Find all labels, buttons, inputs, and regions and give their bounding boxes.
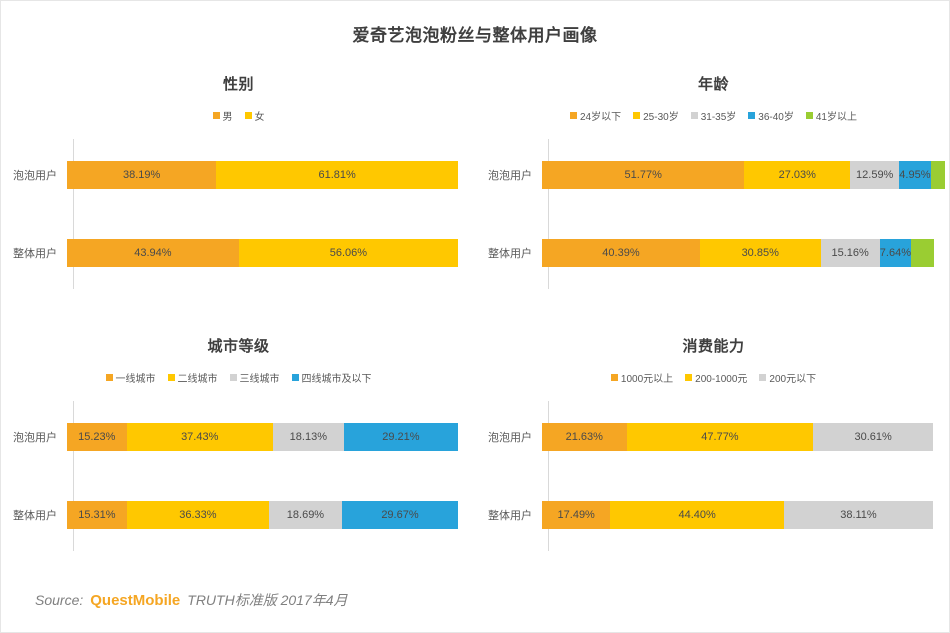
infographic-page: 爱奇艺泡泡粉丝与整体用户画像 性别男女泡泡用户38.19%61.81%整体用户4… (0, 0, 950, 633)
legend-swatch-icon (685, 374, 692, 381)
bar-segment[interactable]: 61.81% (216, 161, 458, 189)
legend-item[interactable]: 四线城市及以下 (292, 370, 372, 385)
bar-segment-label: 29.21% (382, 431, 419, 443)
chart-title: 年龄 (476, 73, 950, 94)
legend-swatch-icon (759, 374, 766, 381)
legend-item[interactable]: 一线城市 (106, 370, 156, 385)
bar-segment[interactable]: 30.85% (700, 239, 821, 267)
chart-plot: 泡泡用户15.23%37.43%18.13%29.21%整体用户15.31%36… (1, 401, 476, 551)
legend-item[interactable]: 三线城市 (230, 370, 280, 385)
legend-swatch-icon (106, 374, 113, 381)
bar-segment-label: 51.77% (625, 169, 662, 181)
bar-segment-label: 43.94% (134, 247, 171, 259)
bar-segment-label: 15.23% (78, 431, 115, 443)
charts-grid: 性别男女泡泡用户38.19%61.81%整体用户43.94%56.06%年龄24… (1, 59, 950, 569)
bar-row: 泡泡用户38.19%61.81% (1, 161, 458, 189)
legend-swatch-icon (691, 112, 698, 119)
bar-row: 整体用户15.31%36.33%18.69%29.67% (1, 501, 458, 529)
bar-segment-label: 30.85% (742, 247, 779, 259)
bar-segment-label: 4.95% (899, 169, 930, 181)
bar-segment-label: 47.77% (701, 431, 738, 443)
bar-segment[interactable]: 12.59% (850, 161, 899, 189)
chart-legend: 24岁以下25-30岁31-35岁36-40岁41岁以上 (476, 108, 950, 123)
bar-segment-label: 36.33% (179, 509, 216, 521)
bar-row: 整体用户40.39%30.85%15.16%7.64% (476, 239, 933, 267)
stacked-bar: 51.77%27.03%12.59%4.95% (542, 161, 933, 189)
source-detail: TRUTH标准版 2017年4月 (187, 590, 347, 610)
bar-segment[interactable]: 7.64% (880, 239, 911, 267)
category-label: 整体用户 (1, 245, 67, 261)
legend-swatch-icon (611, 374, 618, 381)
bar-segment-label: 7.64% (880, 247, 911, 259)
bar-segment-label: 37.43% (181, 431, 218, 443)
legend-swatch-icon (570, 112, 577, 119)
bar-row: 整体用户17.49%44.40%38.11% (476, 501, 933, 529)
category-label: 整体用户 (1, 507, 67, 523)
bar-segment[interactable]: 18.69% (269, 501, 342, 529)
legend-swatch-icon (230, 374, 237, 381)
chart-panel-0: 性别男女泡泡用户38.19%61.81%整体用户43.94%56.06% (1, 59, 476, 314)
page-title: 爱奇艺泡泡粉丝与整体用户画像 (1, 21, 949, 46)
bar-row: 整体用户43.94%56.06% (1, 239, 458, 267)
bar-segment[interactable]: 38.19% (67, 161, 216, 189)
chart-plot: 泡泡用户51.77%27.03%12.59%4.95%整体用户40.39%30.… (476, 139, 950, 289)
bar-segment-label: 12.59% (856, 169, 893, 181)
legend-item[interactable]: 200元以下 (759, 370, 816, 385)
legend-label: 36-40岁 (758, 108, 794, 123)
bar-segment-label: 18.13% (290, 431, 327, 443)
bar-segment[interactable]: 51.77% (542, 161, 744, 189)
legend-label: 41岁以上 (816, 108, 857, 123)
stacked-bar: 15.23%37.43%18.13%29.21% (67, 423, 458, 451)
legend-label: 24岁以下 (580, 108, 621, 123)
bar-segment[interactable]: 47.77% (627, 423, 814, 451)
bar-segment[interactable]: 15.16% (821, 239, 880, 267)
legend-swatch-icon (806, 112, 813, 119)
bar-segment[interactable]: 17.49% (542, 501, 610, 529)
legend-label: 200元以下 (769, 370, 816, 385)
legend-label: 四线城市及以下 (302, 370, 372, 385)
legend-item[interactable]: 25-30岁 (633, 108, 679, 123)
bar-segment-label: 56.06% (330, 247, 367, 259)
bar-segment[interactable]: 21.63% (542, 423, 627, 451)
chart-plot: 泡泡用户21.63%47.77%30.61%整体用户17.49%44.40%38… (476, 401, 950, 551)
chart-legend: 1000元以上200-1000元200元以下 (476, 370, 950, 385)
bar-segment-label: 18.69% (287, 509, 324, 521)
stacked-bar: 17.49%44.40%38.11% (542, 501, 933, 529)
bar-segment-label: 61.81% (318, 169, 355, 181)
bar-segment[interactable]: 43.94% (67, 239, 239, 267)
bar-segment-label: 17.49% (558, 509, 595, 521)
legend-swatch-icon (633, 112, 640, 119)
bar-segment[interactable]: 27.03% (744, 161, 850, 189)
legend-label: 200-1000元 (695, 370, 747, 385)
source-label: Source: (35, 592, 83, 608)
bar-segment[interactable]: 15.31% (67, 501, 127, 529)
legend-label: 31-35岁 (701, 108, 737, 123)
brand-name: QuestMobile (90, 592, 180, 609)
bar-segment[interactable]: 4.95% (899, 161, 930, 189)
bar-row: 泡泡用户51.77%27.03%12.59%4.95% (476, 161, 933, 189)
bar-segment[interactable]: 18.13% (273, 423, 344, 451)
bar-segment[interactable] (911, 239, 934, 267)
chart-panel-2: 城市等级一线城市二线城市三线城市四线城市及以下泡泡用户15.23%37.43%1… (1, 321, 476, 576)
legend-item[interactable]: 41岁以上 (806, 108, 857, 123)
bar-segment-label: 38.11% (840, 509, 877, 521)
legend-item[interactable]: 36-40岁 (748, 108, 794, 123)
legend-item[interactable]: 男 (213, 108, 233, 123)
bar-row: 泡泡用户21.63%47.77%30.61% (476, 423, 933, 451)
stacked-bar: 21.63%47.77%30.61% (542, 423, 933, 451)
legend-label: 1000元以上 (621, 370, 673, 385)
legend-swatch-icon (292, 374, 299, 381)
legend-item[interactable]: 200-1000元 (685, 370, 747, 385)
chart-legend: 一线城市二线城市三线城市四线城市及以下 (1, 370, 476, 385)
legend-label: 男 (223, 108, 233, 123)
legend-item[interactable]: 二线城市 (168, 370, 218, 385)
category-label: 整体用户 (476, 507, 542, 523)
bar-segment[interactable]: 29.21% (344, 423, 458, 451)
bar-segment[interactable]: 40.39% (542, 239, 700, 267)
legend-label: 一线城市 (116, 370, 156, 385)
bar-segment-label: 44.40% (679, 509, 716, 521)
stacked-bar: 38.19%61.81% (67, 161, 458, 189)
bar-segment-label: 38.19% (123, 169, 160, 181)
chart-title: 消费能力 (476, 335, 950, 356)
bar-segment[interactable]: 56.06% (239, 239, 458, 267)
bar-segment-label: 15.16% (832, 247, 869, 259)
category-label: 泡泡用户 (476, 167, 542, 183)
bar-segment-label: 40.39% (602, 247, 639, 259)
source-footer: Source: QuestMobile TRUTH标准版 2017年4月 (35, 590, 348, 610)
legend-item[interactable]: 1000元以上 (611, 370, 673, 385)
bar-segment[interactable]: 38.11% (784, 501, 933, 529)
stacked-bar: 43.94%56.06% (67, 239, 458, 267)
chart-legend: 男女 (1, 108, 476, 123)
bar-segment[interactable]: 29.67% (342, 501, 458, 529)
bar-segment-label: 27.03% (779, 169, 816, 181)
bar-segment-label: 30.61% (855, 431, 892, 443)
bar-segment[interactable] (931, 161, 945, 189)
bar-segment[interactable]: 44.40% (610, 501, 784, 529)
bar-segment[interactable]: 37.43% (127, 423, 273, 451)
legend-swatch-icon (748, 112, 755, 119)
chart-plot: 泡泡用户38.19%61.81%整体用户43.94%56.06% (1, 139, 476, 289)
bar-row: 泡泡用户15.23%37.43%18.13%29.21% (1, 423, 458, 451)
legend-label: 二线城市 (178, 370, 218, 385)
legend-swatch-icon (168, 374, 175, 381)
category-label: 泡泡用户 (1, 429, 67, 445)
bar-segment-label: 21.63% (566, 431, 603, 443)
legend-label: 女 (255, 108, 265, 123)
category-label: 整体用户 (476, 245, 542, 261)
bar-segment[interactable]: 36.33% (127, 501, 269, 529)
legend-swatch-icon (245, 112, 252, 119)
legend-label: 25-30岁 (643, 108, 679, 123)
bar-segment[interactable]: 15.23% (67, 423, 127, 451)
bar-segment[interactable]: 30.61% (813, 423, 933, 451)
stacked-bar: 40.39%30.85%15.16%7.64% (542, 239, 933, 267)
chart-panel-3: 消费能力1000元以上200-1000元200元以下泡泡用户21.63%47.7… (476, 321, 950, 576)
chart-title: 城市等级 (1, 335, 476, 356)
legend-item[interactable]: 31-35岁 (691, 108, 737, 123)
chart-title: 性别 (1, 73, 476, 94)
category-label: 泡泡用户 (1, 167, 67, 183)
category-label: 泡泡用户 (476, 429, 542, 445)
legend-item[interactable]: 女 (245, 108, 265, 123)
legend-item[interactable]: 24岁以下 (570, 108, 621, 123)
stacked-bar: 15.31%36.33%18.69%29.67% (67, 501, 458, 529)
legend-swatch-icon (213, 112, 220, 119)
legend-label: 三线城市 (240, 370, 280, 385)
bar-segment-label: 15.31% (78, 509, 115, 521)
chart-panel-1: 年龄24岁以下25-30岁31-35岁36-40岁41岁以上泡泡用户51.77%… (476, 59, 950, 314)
bar-segment-label: 29.67% (381, 509, 418, 521)
